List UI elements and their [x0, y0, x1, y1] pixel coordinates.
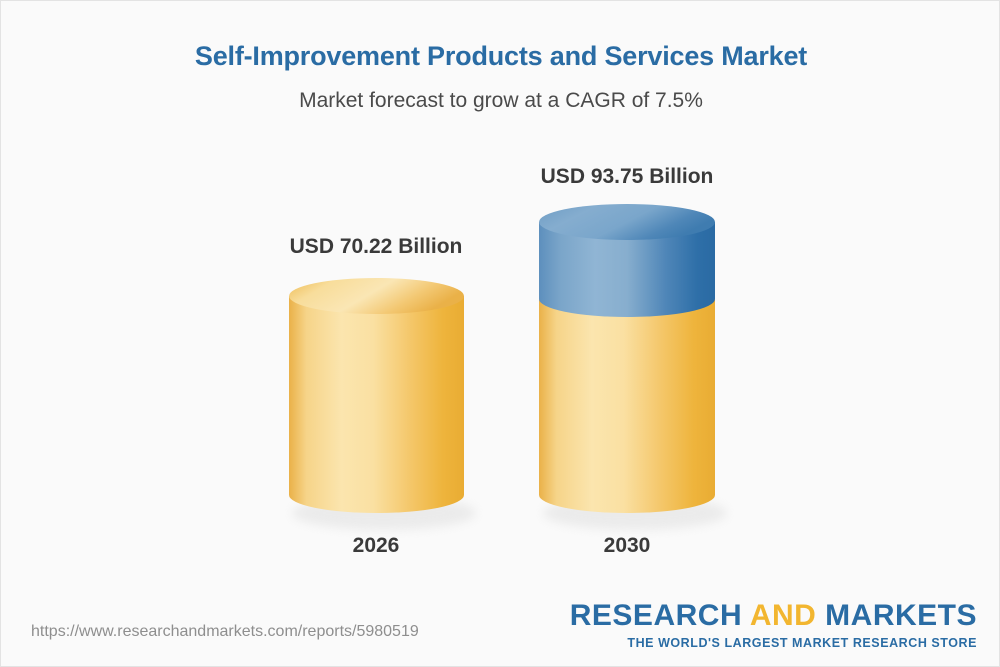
cylinder-bar-chart — [1, 1, 1000, 601]
cylinder-top-2030 — [539, 204, 715, 240]
brand-name-part3: MARKETS — [816, 599, 977, 632]
cylinder-bar-2030[interactable] — [539, 204, 727, 530]
brand-name-part2: AND — [750, 599, 817, 632]
brand-logo[interactable]: RESEARCH AND MARKETS THE WORLD'S LARGEST… — [570, 601, 977, 650]
category-label-2026: 2026 — [276, 534, 476, 558]
cylinder-top-2026 — [289, 278, 464, 314]
cylinder-bar-2026[interactable] — [289, 278, 476, 530]
chart-plot-area: USD 70.22 Billion USD 93.75 Billion 2026… — [1, 1, 1000, 601]
infographic-canvas: Self-Improvement Products and Services M… — [0, 0, 1000, 667]
brand-tagline: THE WORLD'S LARGEST MARKET RESEARCH STOR… — [570, 637, 977, 650]
brand-name: RESEARCH AND MARKETS — [570, 601, 977, 631]
cylinder-body-2026 — [289, 296, 464, 513]
category-label-2030: 2030 — [527, 534, 727, 558]
source-url[interactable]: https://www.researchandmarkets.com/repor… — [31, 623, 419, 641]
brand-name-part1: RESEARCH — [570, 599, 750, 632]
cylinder-segment-base-2030 — [539, 299, 715, 513]
data-label-2030: USD 93.75 Billion — [527, 165, 727, 189]
data-label-2026: USD 70.22 Billion — [276, 235, 476, 259]
